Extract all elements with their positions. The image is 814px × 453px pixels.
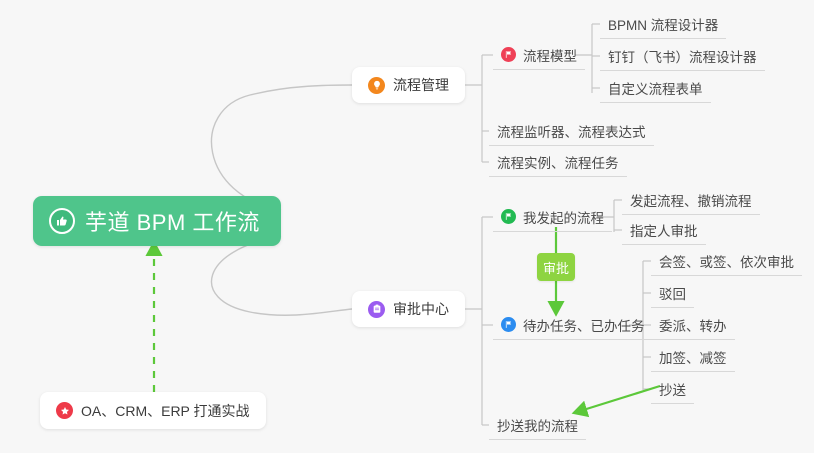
node-countersign[interactable]: 会签、或签、依次审批: [651, 246, 802, 276]
node-label: 自定义流程表单: [608, 78, 703, 98]
approval-badge-label: 审批: [543, 258, 569, 277]
node-cc[interactable]: 抄送: [651, 374, 694, 404]
node-bpmn-designer[interactable]: BPMN 流程设计器: [600, 9, 726, 39]
branch-label: 审批中心: [393, 299, 449, 319]
node-label: OA、CRM、ERP 打通实战: [81, 401, 250, 421]
mindmap-canvas: 芋道 BPM 工作流 流程管理 流程模型 BPMN 流程设计器 钉钉（飞书）流程…: [0, 0, 814, 453]
node-label: 加签、减签: [659, 347, 727, 367]
node-custom-form[interactable]: 自定义流程表单: [600, 73, 711, 103]
edge-root-to-process-management: [212, 85, 352, 210]
node-start-cancel-process[interactable]: 发起流程、撤销流程: [622, 185, 760, 215]
node-label: 钉钉（飞书）流程设计器: [608, 46, 757, 66]
node-dingtalk-designer[interactable]: 钉钉（飞书）流程设计器: [600, 41, 765, 71]
star-icon: [56, 402, 73, 419]
branch-approval-center[interactable]: 审批中心: [352, 291, 465, 327]
node-label: 发起流程、撤销流程: [630, 190, 752, 210]
node-listener-expression[interactable]: 流程监听器、流程表达式: [489, 116, 654, 146]
node-integration-practice[interactable]: OA、CRM、ERP 打通实战: [40, 392, 266, 429]
node-label: 指定人审批: [630, 220, 698, 240]
clipboard-icon: [368, 301, 385, 318]
node-label: 抄送: [659, 379, 686, 399]
branch-process-management[interactable]: 流程管理: [352, 67, 465, 103]
node-label: 抄送我的流程: [497, 415, 578, 435]
approval-badge[interactable]: 审批: [537, 253, 575, 281]
node-label: 会签、或签、依次审批: [659, 251, 794, 271]
node-add-remove-sign[interactable]: 加签、减签: [651, 342, 735, 372]
flag-icon: [501, 317, 516, 332]
flag-icon: [501, 209, 516, 224]
flag-icon: [501, 47, 516, 62]
arrow-cc-to-cc-mine: [580, 386, 660, 411]
node-cc-to-me[interactable]: 抄送我的流程: [489, 410, 586, 440]
node-my-initiated[interactable]: 我发起的流程: [493, 202, 612, 232]
node-reject[interactable]: 驳回: [651, 278, 694, 308]
node-instance-task[interactable]: 流程实例、流程任务: [489, 147, 627, 177]
node-assignee-approval[interactable]: 指定人审批: [622, 215, 706, 245]
node-process-model[interactable]: 流程模型: [493, 40, 585, 70]
thumbs-up-icon: [49, 208, 75, 234]
node-label: 流程实例、流程任务: [497, 152, 619, 172]
lightbulb-icon: [368, 77, 385, 94]
edge-root-to-approval-center: [212, 236, 352, 315]
node-label: 流程监听器、流程表达式: [497, 121, 646, 141]
node-todo-done-tasks[interactable]: 待办任务、已办任务: [493, 310, 653, 340]
node-delegate-transfer[interactable]: 委派、转办: [651, 310, 735, 340]
node-label: 我发起的流程: [523, 207, 604, 227]
node-label: 委派、转办: [659, 315, 727, 335]
node-label: 驳回: [659, 283, 686, 303]
node-label: 流程模型: [523, 45, 577, 65]
root-node[interactable]: 芋道 BPM 工作流: [33, 196, 281, 246]
node-label: 待办任务、已办任务: [523, 315, 645, 335]
node-label: BPMN 流程设计器: [608, 14, 718, 34]
branch-label: 流程管理: [393, 75, 449, 95]
root-label: 芋道 BPM 工作流: [85, 205, 260, 237]
